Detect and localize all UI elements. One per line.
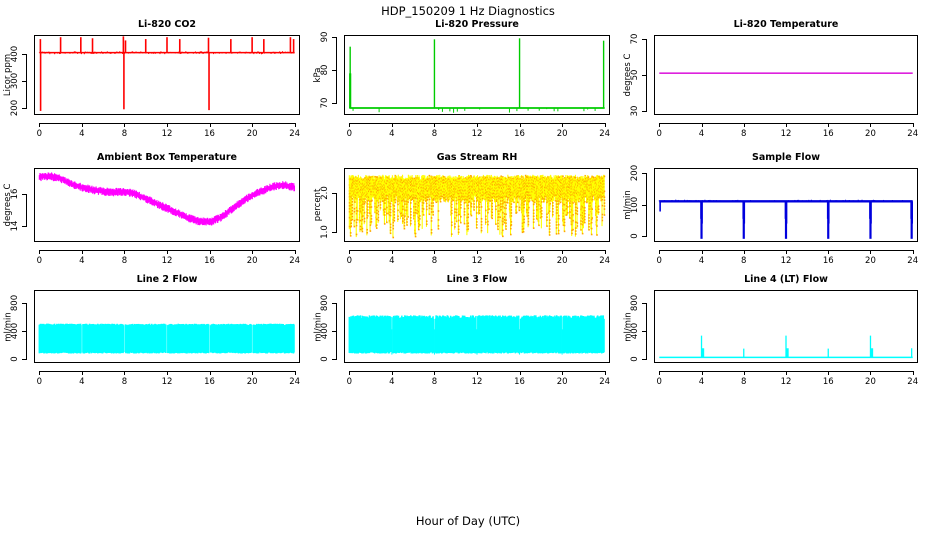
x-tick-mark <box>828 371 829 375</box>
x-tick-mark <box>870 371 871 375</box>
data-trace <box>654 290 918 363</box>
y-tick-mark <box>642 331 647 332</box>
x-tick-label: 16 <box>813 377 843 387</box>
x-tick-mark <box>659 371 660 375</box>
panel-line-4-lt-flow: Line 4 (LT) Flow048121620240400800ml/min <box>0 0 936 540</box>
x-tick-mark <box>786 371 787 375</box>
diagnostics-figure: HDP_150209 1 Hz Diagnostics Li-820 CO204… <box>0 0 936 540</box>
y-axis-label: ml/min <box>622 270 634 383</box>
x-tick-label: 0 <box>644 377 674 387</box>
panel-title: Line 4 (LT) Flow <box>614 274 936 285</box>
y-tick-mark <box>642 303 647 304</box>
x-tick-label: 12 <box>771 377 801 387</box>
x-tick-label: 24 <box>898 377 928 387</box>
x-tick-mark <box>702 371 703 375</box>
x-tick-label: 8 <box>729 377 759 387</box>
x-tick-label: 4 <box>687 377 717 387</box>
x-tick-mark <box>744 371 745 375</box>
x-tick-label: 20 <box>855 377 885 387</box>
figure-xaxis-label: Hour of Day (UTC) <box>0 514 936 528</box>
y-tick-mark <box>642 359 647 360</box>
x-tick-mark <box>913 371 914 375</box>
